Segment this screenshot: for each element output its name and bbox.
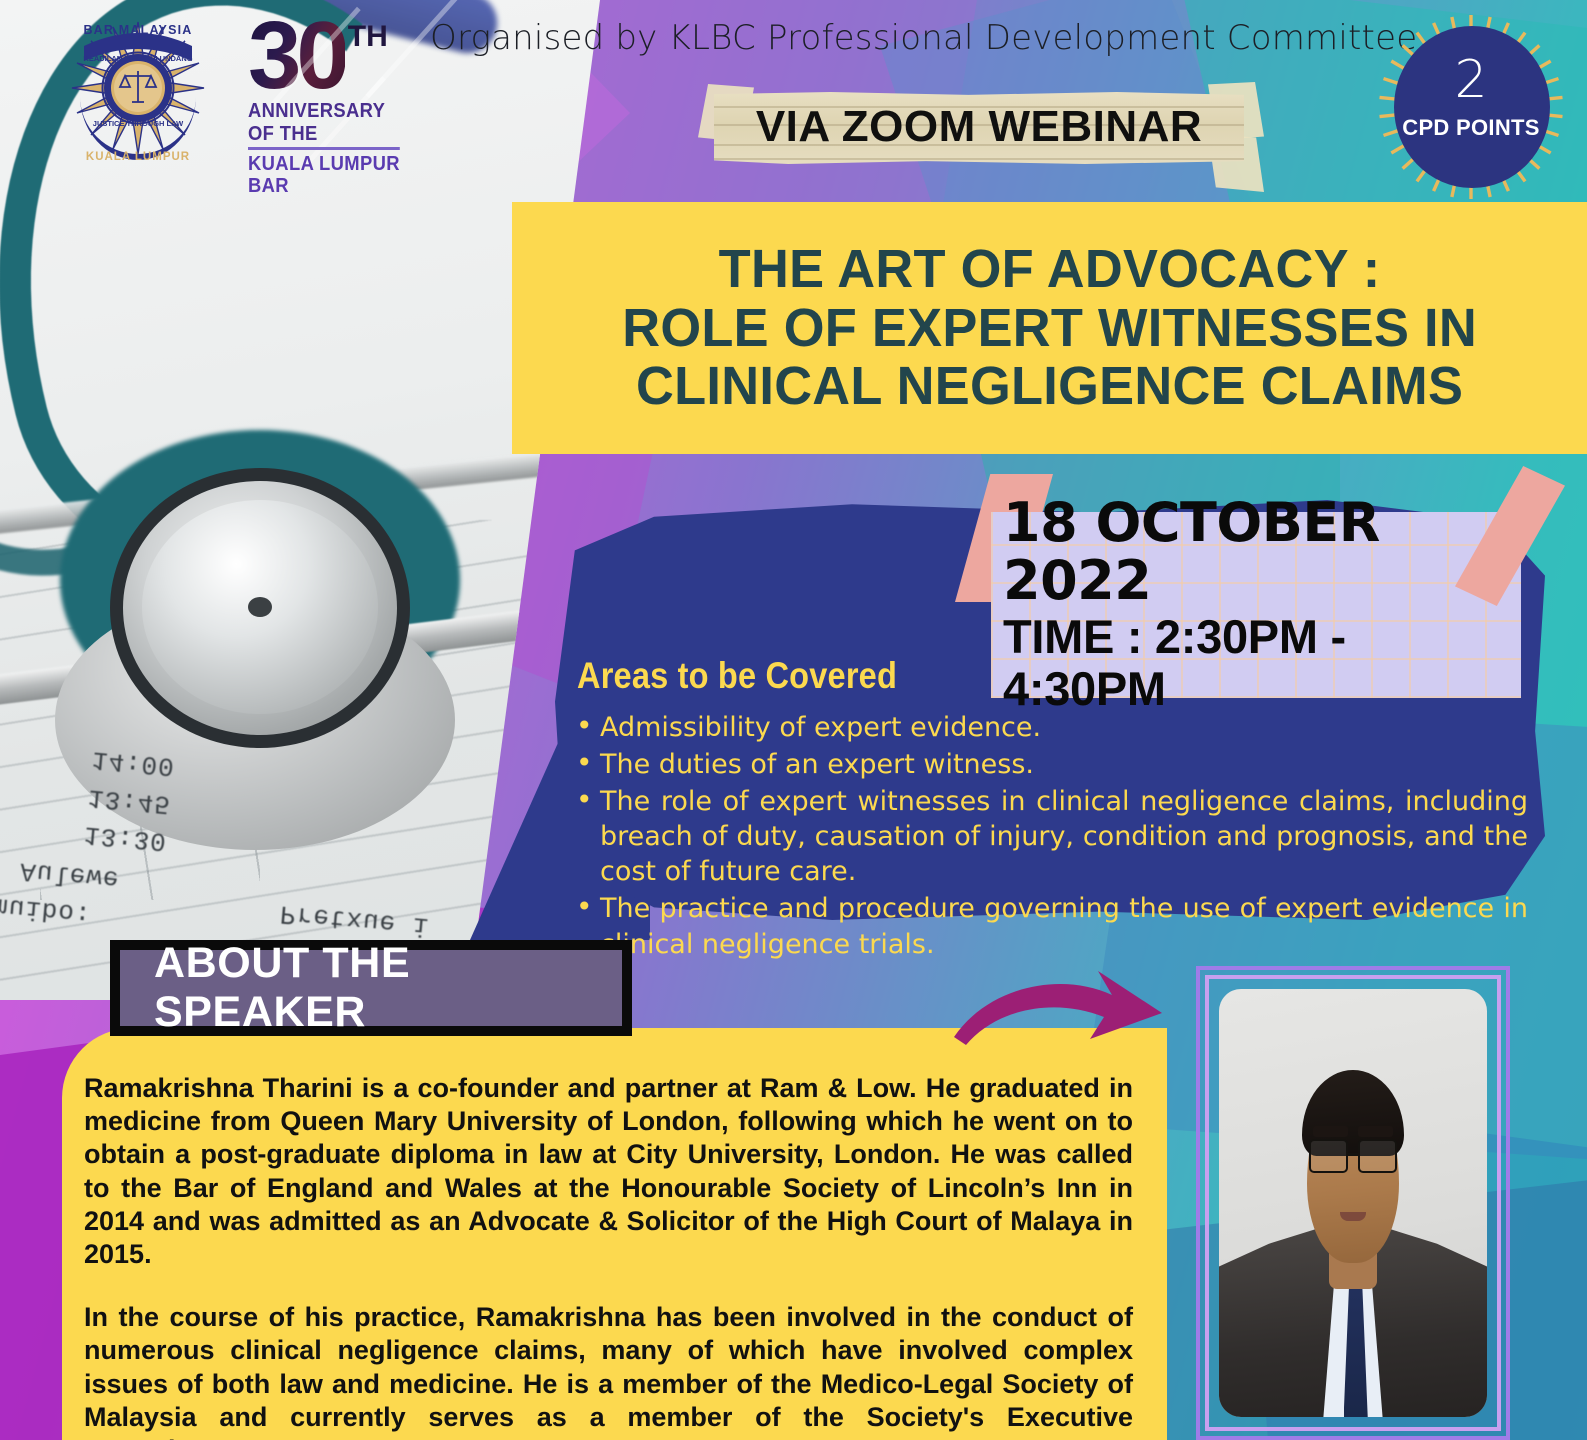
title-line-1: THE ART OF ADVOCACY : (622, 240, 1477, 299)
event-time: TIME : 2:30PM - 4:30PM (1003, 611, 1521, 716)
eyebrow-shape (1358, 1126, 1393, 1137)
stethoscope-port (248, 597, 272, 617)
about-speaker-header: ABOUT THE SPEAKER (110, 940, 632, 1036)
svg-text:KUALA LUMPUR: KUALA LUMPUR (86, 151, 190, 163)
cpd-points-label: CPD POINTS (1362, 115, 1580, 141)
list-item: Admissibility of expert evidence. (568, 710, 1528, 745)
event-date: 18 OCTOBER 2022 (1003, 494, 1521, 611)
areas-heading: Areas to be Covered (577, 655, 897, 697)
mouth-shape (1340, 1212, 1367, 1221)
event-title-block: THE ART OF ADVOCACY : ROLE OF EXPERT WIT… (512, 202, 1587, 454)
eyebrow-shape (1313, 1126, 1348, 1137)
organiser-line: Organised by KLBC Professional Developme… (430, 18, 1340, 58)
webinar-mode-banner: VIA ZOOM WEBINAR (706, 88, 1252, 166)
speaker-bio-card: Ramakrishna Tharini is a co-founder and … (62, 1028, 1167, 1440)
speaker-photo-inner-border (1205, 975, 1501, 1431)
svg-text:KEADILAN MELALUI UNDANG: KEADILAN MELALUI UNDANG (83, 54, 192, 63)
speaker-portrait (1219, 989, 1487, 1417)
list-item: The role of expert witnesses in clinical… (568, 784, 1528, 889)
speaker-photo-frame (1196, 966, 1510, 1440)
speaker-bio-paragraph-2: In the course of his practice, Ramakrish… (84, 1301, 1133, 1440)
webinar-mode-text: VIA ZOOM WEBINAR (706, 88, 1252, 166)
svg-text:JUSTICE THROUGH LAW: JUSTICE THROUGH LAW (93, 119, 184, 128)
speaker-bio-paragraph-1: Ramakrishna Tharini is a co-founder and … (84, 1072, 1133, 1271)
anniversary-lockup: 30 TH ANNIVERSARY OF THE KUALA LUMPUR BA… (248, 12, 428, 198)
anniversary-line-2: KUALA LUMPUR BAR (248, 153, 414, 198)
svg-text:BAR MALAYSIA: BAR MALAYSIA (83, 23, 192, 37)
curved-arrow-icon (948, 965, 1180, 1055)
anniversary-number: 30 (248, 12, 345, 100)
about-speaker-label: ABOUT THE SPEAKER (154, 939, 622, 1037)
glasses-icon (1309, 1139, 1397, 1173)
bar-malaysia-logo: BAR MALAYSIA KUALA LUMPUR KEADILAN MELAL… (58, 8, 218, 173)
poster-canvas: 14:00 13:45 13:30 Aulewe muibo: Pretxue … (0, 0, 1587, 1440)
cpd-points-value: 2 (1362, 50, 1580, 110)
title-line-2: ROLE OF EXPERT WITNESSES IN (622, 299, 1477, 358)
cpd-points-badge: 2 CPD POINTS (1362, 12, 1580, 202)
event-datetime-card: 18 OCTOBER 2022 TIME : 2:30PM - 4:30PM (991, 512, 1521, 698)
areas-list: Admissibility of expert evidence. The du… (568, 710, 1528, 964)
list-item: The practice and procedure governing the… (568, 891, 1528, 961)
list-item: The duties of an expert witness. (568, 747, 1528, 782)
title-line-3: CLINICAL NEGLIGENCE CLAIMS (622, 357, 1477, 416)
anniversary-line-1: ANNIVERSARY OF THE (248, 100, 400, 150)
anniversary-ordinal: TH (348, 20, 388, 54)
